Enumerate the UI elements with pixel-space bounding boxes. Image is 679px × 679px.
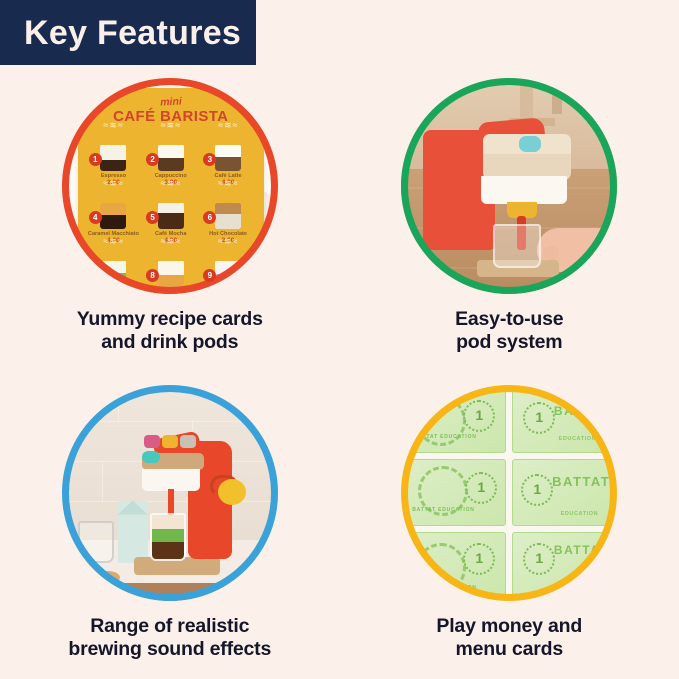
- features-grid: mini CAFÉ BARISTA 1 ≈≋≈: [0, 66, 679, 679]
- recipe-item-number: 3: [203, 153, 216, 166]
- caption-line-1: Play money and: [436, 615, 582, 638]
- recipe-item-number: 7: [89, 269, 102, 282]
- recipe-item-number: 5: [146, 211, 159, 224]
- feature-caption-sound-effects: Range of realistic brewing sound effects: [68, 615, 271, 661]
- recipe-item-number: 2: [146, 153, 159, 166]
- caption-line-2: pod system: [455, 331, 563, 354]
- feature-caption-recipe-cards: Yummy recipe cards and drink pods: [77, 308, 263, 354]
- bill-sub: EDUCATION: [557, 587, 595, 593]
- circle-ring-play-money: [401, 385, 617, 601]
- feature-pod-system: Easy-to-use pod system: [340, 66, 679, 373]
- caption-line-1: Yummy recipe cards: [77, 308, 263, 331]
- feature-image-sound-effects: [62, 385, 278, 601]
- feature-caption-pod-system: Easy-to-use pod system: [455, 308, 563, 354]
- caption-line-1: Range of realistic: [68, 615, 271, 638]
- feature-recipe-cards: mini CAFÉ BARISTA 1 ≈≋≈: [0, 66, 340, 373]
- feature-image-recipe-cards: mini CAFÉ BARISTA 1 ≈≋≈: [62, 78, 278, 294]
- circle-ring-recipe-cards: [62, 78, 278, 294]
- page-title: Key Features: [24, 16, 241, 50]
- recipe-item-name: Green Tea Latte: [86, 289, 141, 294]
- caption-line-2: brewing sound effects: [68, 638, 271, 661]
- circle-ring-sound-effects: [62, 385, 278, 601]
- caption-line-2: menu cards: [436, 638, 582, 661]
- feature-sound-effects: Range of realistic brewing sound effects: [0, 373, 340, 679]
- recipe-item-number: 4: [89, 211, 102, 224]
- caption-line-1: Easy-to-use: [455, 308, 563, 331]
- caption-line-2: and drink pods: [77, 331, 263, 354]
- recipe-item-name: Strawberry Latte: [200, 289, 255, 294]
- circle-ring-pod-system: [401, 78, 617, 294]
- feature-play-money: 1 BATTAT EDUCATION 1 BATTAT EDUCATION 1 …: [340, 373, 679, 679]
- recipe-item-number: 1: [89, 153, 102, 166]
- feature-image-play-money: 1 BATTAT EDUCATION 1 BATTAT EDUCATION 1 …: [401, 385, 617, 601]
- header-banner: Key Features: [0, 0, 256, 65]
- feature-caption-play-money: Play money and menu cards: [436, 615, 582, 661]
- feature-image-pod-system: [401, 78, 617, 294]
